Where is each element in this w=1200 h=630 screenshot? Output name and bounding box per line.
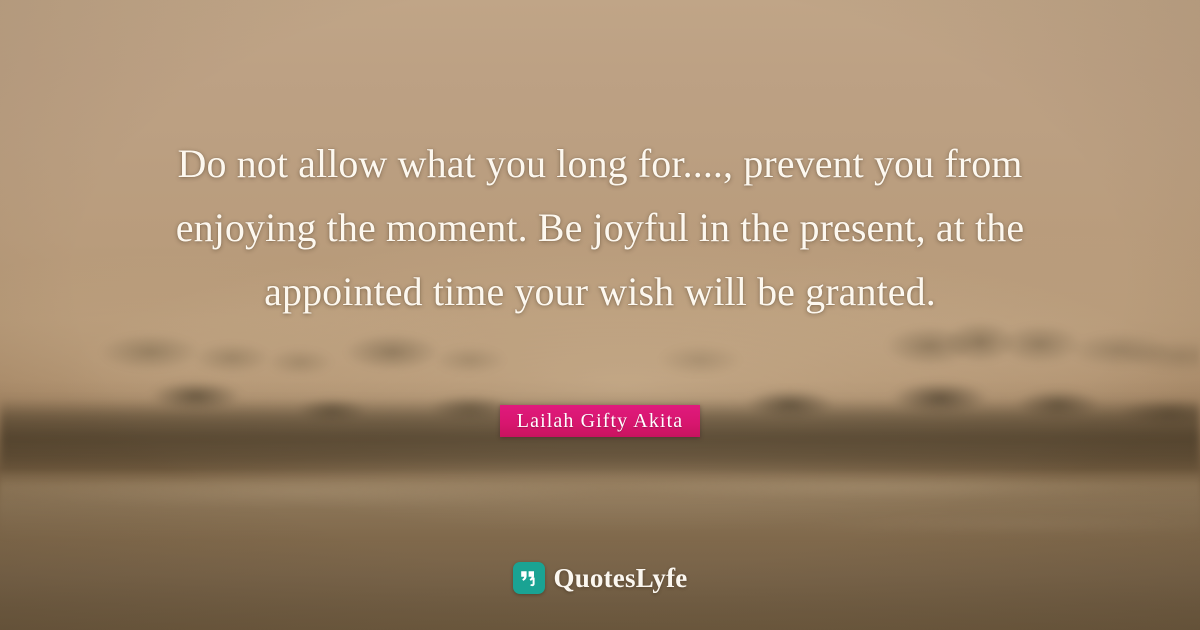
brand-logo[interactable]: QuotesLyfe	[0, 562, 1200, 594]
quote-mark-icon	[513, 562, 545, 594]
brand-name: QuotesLyfe	[554, 563, 688, 594]
author-badge[interactable]: Lailah Gifty Akita	[500, 405, 700, 437]
quote-card: Do not allow what you long for...., prev…	[0, 0, 1200, 630]
quote-text: Do not allow what you long for...., prev…	[110, 132, 1090, 324]
quote-block: Do not allow what you long for...., prev…	[0, 132, 1200, 324]
author-row: Lailah Gifty Akita	[0, 405, 1200, 437]
